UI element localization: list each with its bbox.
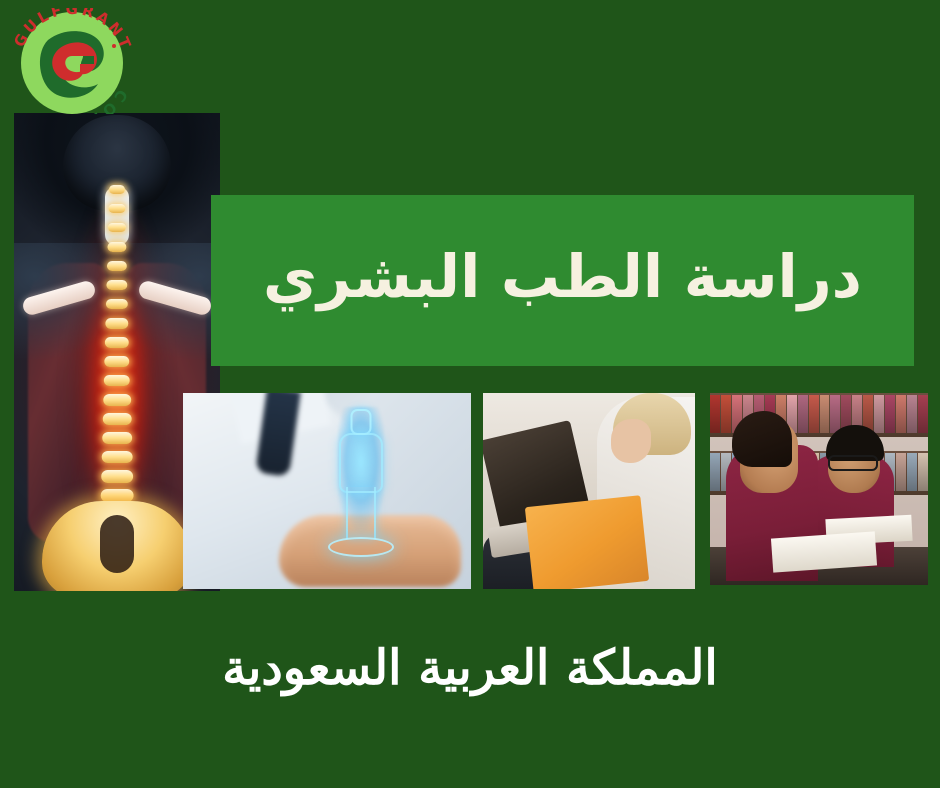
vertebra <box>106 280 127 290</box>
library-book-spine <box>885 395 895 433</box>
vertebra <box>105 318 128 329</box>
vertebra <box>103 394 131 406</box>
female-student-hair <box>732 411 792 467</box>
library-book-spine <box>820 395 830 433</box>
holographic-human-figure <box>321 407 401 547</box>
library-book-spine <box>809 395 819 433</box>
subtitle-region: المملكة العربية السعودية <box>0 640 940 698</box>
vertebra <box>106 299 128 309</box>
vertebra <box>103 413 132 425</box>
library-book-spine <box>710 453 720 491</box>
eyeglasses-icon <box>828 455 878 471</box>
library-book-spine <box>798 395 808 433</box>
hologram-torso <box>339 433 383 493</box>
hologram-base-disc <box>328 537 394 557</box>
vertebra <box>104 356 129 367</box>
vertebra <box>104 375 130 386</box>
vertebra <box>102 432 132 444</box>
page-title: دراسة الطب البشري <box>263 244 862 316</box>
library-book-spine <box>710 395 720 433</box>
country-subtitle: المملكة العربية السعودية <box>222 640 717 698</box>
student-laptop-photo <box>483 393 695 589</box>
library-book-spine <box>721 395 731 433</box>
vertebra <box>108 223 126 232</box>
library-book-spine <box>907 453 917 491</box>
poster-canvas: GULFGRANT COM دراسة الطب البشري <box>0 0 940 788</box>
library-book-spine <box>918 395 928 433</box>
library-book-spine <box>918 453 928 491</box>
library-book-spine <box>907 395 917 433</box>
vertebra <box>101 489 134 502</box>
spine-pelvis <box>42 501 192 591</box>
library-book-spine <box>830 395 840 433</box>
logo-dot <box>112 44 116 48</box>
library-book-spine <box>896 453 906 491</box>
woman-face <box>611 419 651 463</box>
library-book-spine <box>874 395 884 433</box>
hologram-head <box>351 409 372 435</box>
hologram-legs <box>346 487 376 539</box>
vertebra <box>102 451 133 463</box>
doctor-hologram-photo <box>183 393 471 589</box>
vertebra <box>107 261 127 271</box>
vertebra <box>109 185 125 194</box>
library-students-photo <box>710 393 928 585</box>
vertebra <box>105 337 129 348</box>
title-banner: دراسة الطب البشري <box>211 195 914 366</box>
vertebra <box>107 242 126 252</box>
vertebra <box>101 470 133 483</box>
vertebra <box>108 204 125 213</box>
library-book-spine <box>896 395 906 433</box>
gulfgrant-com-logo[interactable]: GULFGRANT COM <box>8 8 136 114</box>
orange-book-cover <box>525 495 649 589</box>
open-book-primary <box>771 531 877 572</box>
